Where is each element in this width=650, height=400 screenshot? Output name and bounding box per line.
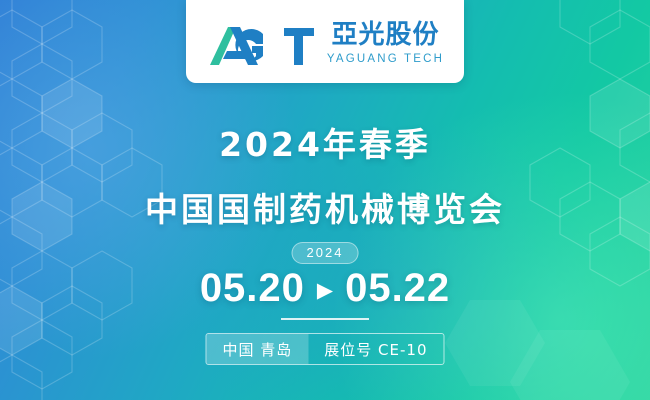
event-date-range: 05.20 ▶ 05.22 (0, 266, 650, 311)
event-city: 中国 青岛 (206, 334, 308, 364)
title-line-2: 中国国制药机械博览会 (0, 183, 650, 231)
event-booth-number: 展位号 CE-10 (308, 334, 443, 364)
brand-logo-card: 亞光股份 YAGUANG TECH (186, 0, 464, 83)
logo-inner: 亞光股份 YAGUANG TECH (206, 21, 444, 67)
agt-monogram-icon (206, 21, 318, 67)
year-badge: 2024 (292, 242, 359, 264)
poster-banner: 亞光股份 YAGUANG TECH 2024年春季 中国国制药机械博览会 202… (0, 0, 650, 400)
date-end: 05.22 (345, 266, 450, 311)
brand-name-en: YAGUANG TECH (327, 54, 444, 66)
date-start: 05.20 (200, 266, 305, 311)
date-underline-divider (281, 318, 369, 320)
brand-name-cn: 亞光股份 (331, 22, 439, 48)
brand-text-block: 亞光股份 YAGUANG TECH (327, 22, 444, 66)
arrow-right-icon: ▶ (317, 280, 333, 301)
poster-title: 2024年春季 中国国制药机械博览会 (0, 118, 650, 231)
title-line-1: 2024年春季 (0, 118, 650, 166)
event-info-bar: 中国 青岛 展位号 CE-10 (205, 333, 444, 365)
